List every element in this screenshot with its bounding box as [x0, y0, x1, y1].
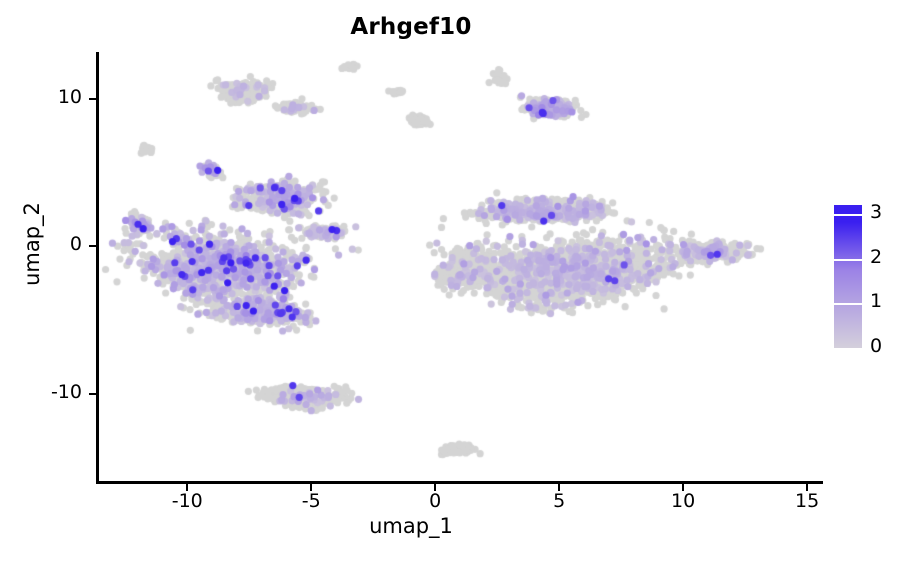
colorbar: 0123	[834, 205, 906, 350]
x-axis-label: umap_1	[0, 514, 822, 538]
umap-figure: Arhgef10 -10-5051015 100-10 umap_1 umap_…	[0, 0, 911, 562]
y-tick-mark	[89, 245, 97, 247]
colorbar-tick-mark	[834, 259, 862, 261]
colorbar-gradient	[834, 205, 862, 348]
y-tick-label: -10	[10, 381, 82, 403]
x-tick-label: 10	[653, 490, 713, 512]
colorbar-tick-label: 0	[870, 335, 904, 357]
colorbar-tick-mark	[834, 303, 862, 305]
page-title: Arhgef10	[0, 14, 822, 40]
x-tick-label: 15	[777, 490, 837, 512]
scatter-plot-canvas	[98, 52, 822, 482]
x-tick-label: 5	[529, 490, 589, 512]
y-tick-label: 10	[10, 86, 82, 108]
y-tick-mark	[89, 393, 97, 395]
y-axis-label: umap_2	[20, 124, 44, 364]
colorbar-tick-label: 1	[870, 290, 904, 312]
x-tick-label: -5	[281, 490, 341, 512]
y-tick-mark	[89, 98, 97, 100]
colorbar-tick-label: 3	[870, 201, 904, 223]
colorbar-tick-label: 2	[870, 246, 904, 268]
colorbar-tick-mark	[834, 214, 862, 216]
x-tick-label: 0	[405, 490, 465, 512]
x-tick-label: -10	[157, 490, 217, 512]
